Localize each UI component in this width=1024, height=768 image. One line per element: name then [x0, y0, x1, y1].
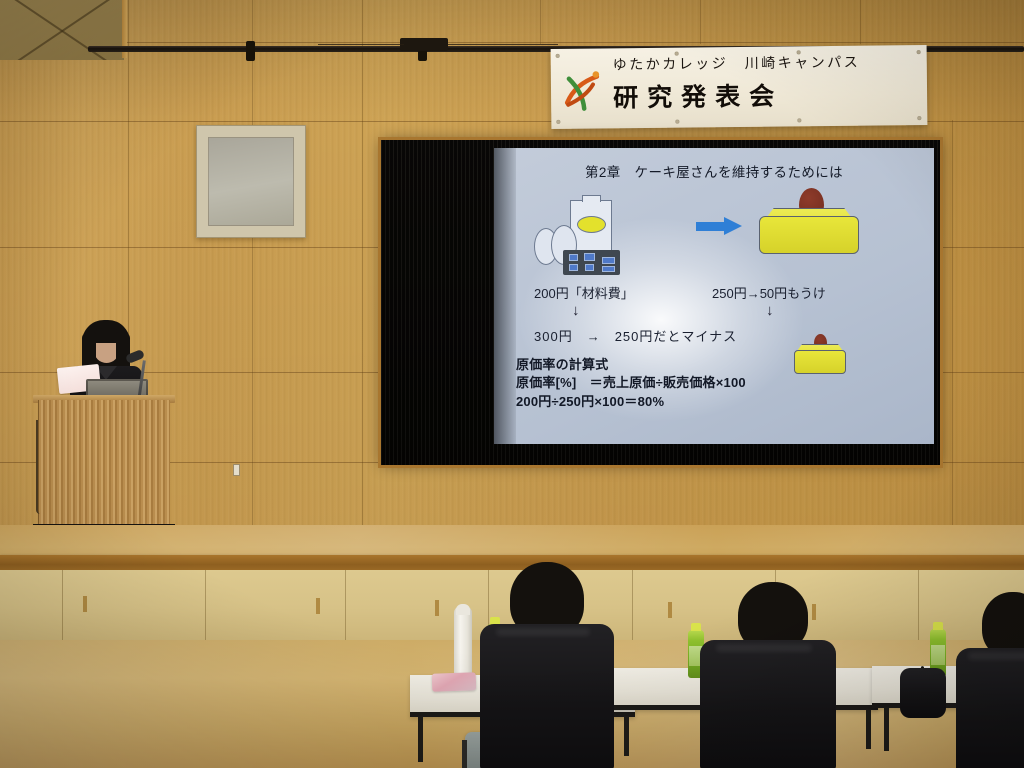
- pink-pouch: [432, 672, 477, 692]
- wall-vent-panel: [196, 125, 306, 238]
- apron-latch: [316, 598, 320, 614]
- mixer-button: [584, 253, 595, 261]
- banner-grommet: [675, 120, 679, 124]
- thermos-cap: [456, 604, 470, 615]
- slide-formula-block: 原価率の計算式 原価率[%] ＝売上原価÷販売価格×100 200円÷250円×…: [516, 356, 926, 411]
- apron-latch: [83, 596, 87, 612]
- wall-seam: [540, 0, 541, 44]
- mixer-button: [602, 257, 615, 264]
- attendee-1-long-hair: [478, 562, 614, 768]
- table-leg: [418, 716, 423, 762]
- batten-wire: [448, 44, 558, 45]
- mixer-appliance-shape: [563, 250, 620, 275]
- suit-highlight: [496, 628, 590, 636]
- banner-title: 研究発表会: [613, 75, 921, 114]
- wall-seam: [362, 0, 363, 540]
- wall-outlet: [233, 464, 240, 476]
- arrow-shaft: [696, 222, 726, 231]
- banner-grommet: [797, 118, 801, 122]
- attendee-suit: [956, 648, 1024, 768]
- lecture-hall-photo: ゆたかカレッジ 川崎キャンパス 研究発表会 第2章 ケーキ屋さんを維持するために…: [0, 0, 1024, 768]
- wall-seam: [860, 0, 861, 44]
- projection-screen-assembly: 第2章 ケーキ屋さんを維持するためには: [381, 140, 940, 465]
- wooden-podium: [38, 400, 170, 530]
- down-arrow-icon-left: ↓: [572, 302, 580, 319]
- wall-seam: [252, 0, 253, 540]
- attendee-3-arm: [900, 668, 946, 718]
- batten-clamp: [246, 41, 255, 61]
- apron-seam: [345, 570, 346, 646]
- attendee-3-right-edge: [960, 592, 1024, 768]
- suit-highlight: [968, 652, 1024, 660]
- flour-package-cap: [582, 195, 601, 202]
- mixer-button: [602, 266, 615, 272]
- bottle-cap: [933, 622, 943, 630]
- event-banner: ゆたかカレッジ 川崎キャンパス 研究発表会: [551, 45, 928, 129]
- apron-seam: [205, 570, 206, 646]
- suit-highlight: [716, 644, 811, 652]
- bottle-label: [931, 645, 945, 665]
- baking-ingredients-icon: [532, 196, 650, 274]
- mixer-button: [569, 254, 578, 261]
- batten-wire: [318, 44, 404, 45]
- formula-line-1: 原価率[%] ＝売上原価÷販売価格×100: [516, 374, 926, 392]
- table-leg: [624, 716, 629, 756]
- slide-label-cost: 200円「材料費」: [534, 283, 634, 302]
- wall-vent-inner: [208, 137, 294, 226]
- apron-seam: [62, 570, 63, 646]
- arrow-head: [724, 217, 742, 235]
- cake-body: [759, 216, 859, 254]
- apron-seam: [632, 570, 633, 646]
- formula-line-2: 200円÷250円×100＝80%: [516, 393, 926, 411]
- wall-seam: [952, 120, 953, 540]
- cake-large-icon: [759, 188, 859, 258]
- slide-title: 第2章 ケーキ屋さんを維持するためには: [494, 161, 934, 181]
- banner-text-block: ゆたかカレッジ 川崎キャンパス 研究発表会: [613, 51, 922, 114]
- blue-right-arrow-icon: [696, 217, 742, 235]
- table-leg: [884, 707, 889, 751]
- banner-grommet: [556, 54, 560, 58]
- attendee-2-short-hair: [700, 582, 834, 768]
- banner-grommet: [556, 120, 560, 124]
- slide-label-profit: 250円→50円もうけ: [712, 283, 826, 302]
- banner-grommet: [917, 116, 921, 120]
- table-leg: [866, 709, 871, 749]
- formula-heading: 原価率の計算式: [516, 356, 926, 374]
- batten-junction-box: [400, 38, 448, 51]
- white-thermos-bottle: [454, 606, 472, 680]
- slide-label-minus: 300円 → 250円だとマイナス: [534, 326, 737, 345]
- chair-frame: [462, 740, 467, 768]
- yutaka-college-logo: [563, 68, 609, 114]
- presentation-slide: 第2章 ケーキ屋さんを維持するためには: [494, 148, 934, 444]
- apron-latch: [435, 600, 439, 616]
- wall-seam: [700, 0, 701, 44]
- mixer-button: [585, 264, 594, 271]
- projection-screen: 第2章 ケーキ屋さんを維持するためには: [494, 148, 934, 444]
- mixer-button: [569, 264, 578, 271]
- attendee-suit: [480, 624, 614, 768]
- apron-latch: [668, 602, 672, 618]
- attendee-suit: [700, 640, 836, 768]
- down-arrow-icon-right: ↓: [766, 302, 774, 319]
- microphone-cable: [36, 420, 40, 514]
- wall-seam: [0, 42, 1024, 43]
- banner-subtitle: ゆたかカレッジ 川崎キャンパス: [613, 51, 921, 74]
- package-label-oval: [577, 216, 606, 233]
- apron-seam: [918, 570, 919, 646]
